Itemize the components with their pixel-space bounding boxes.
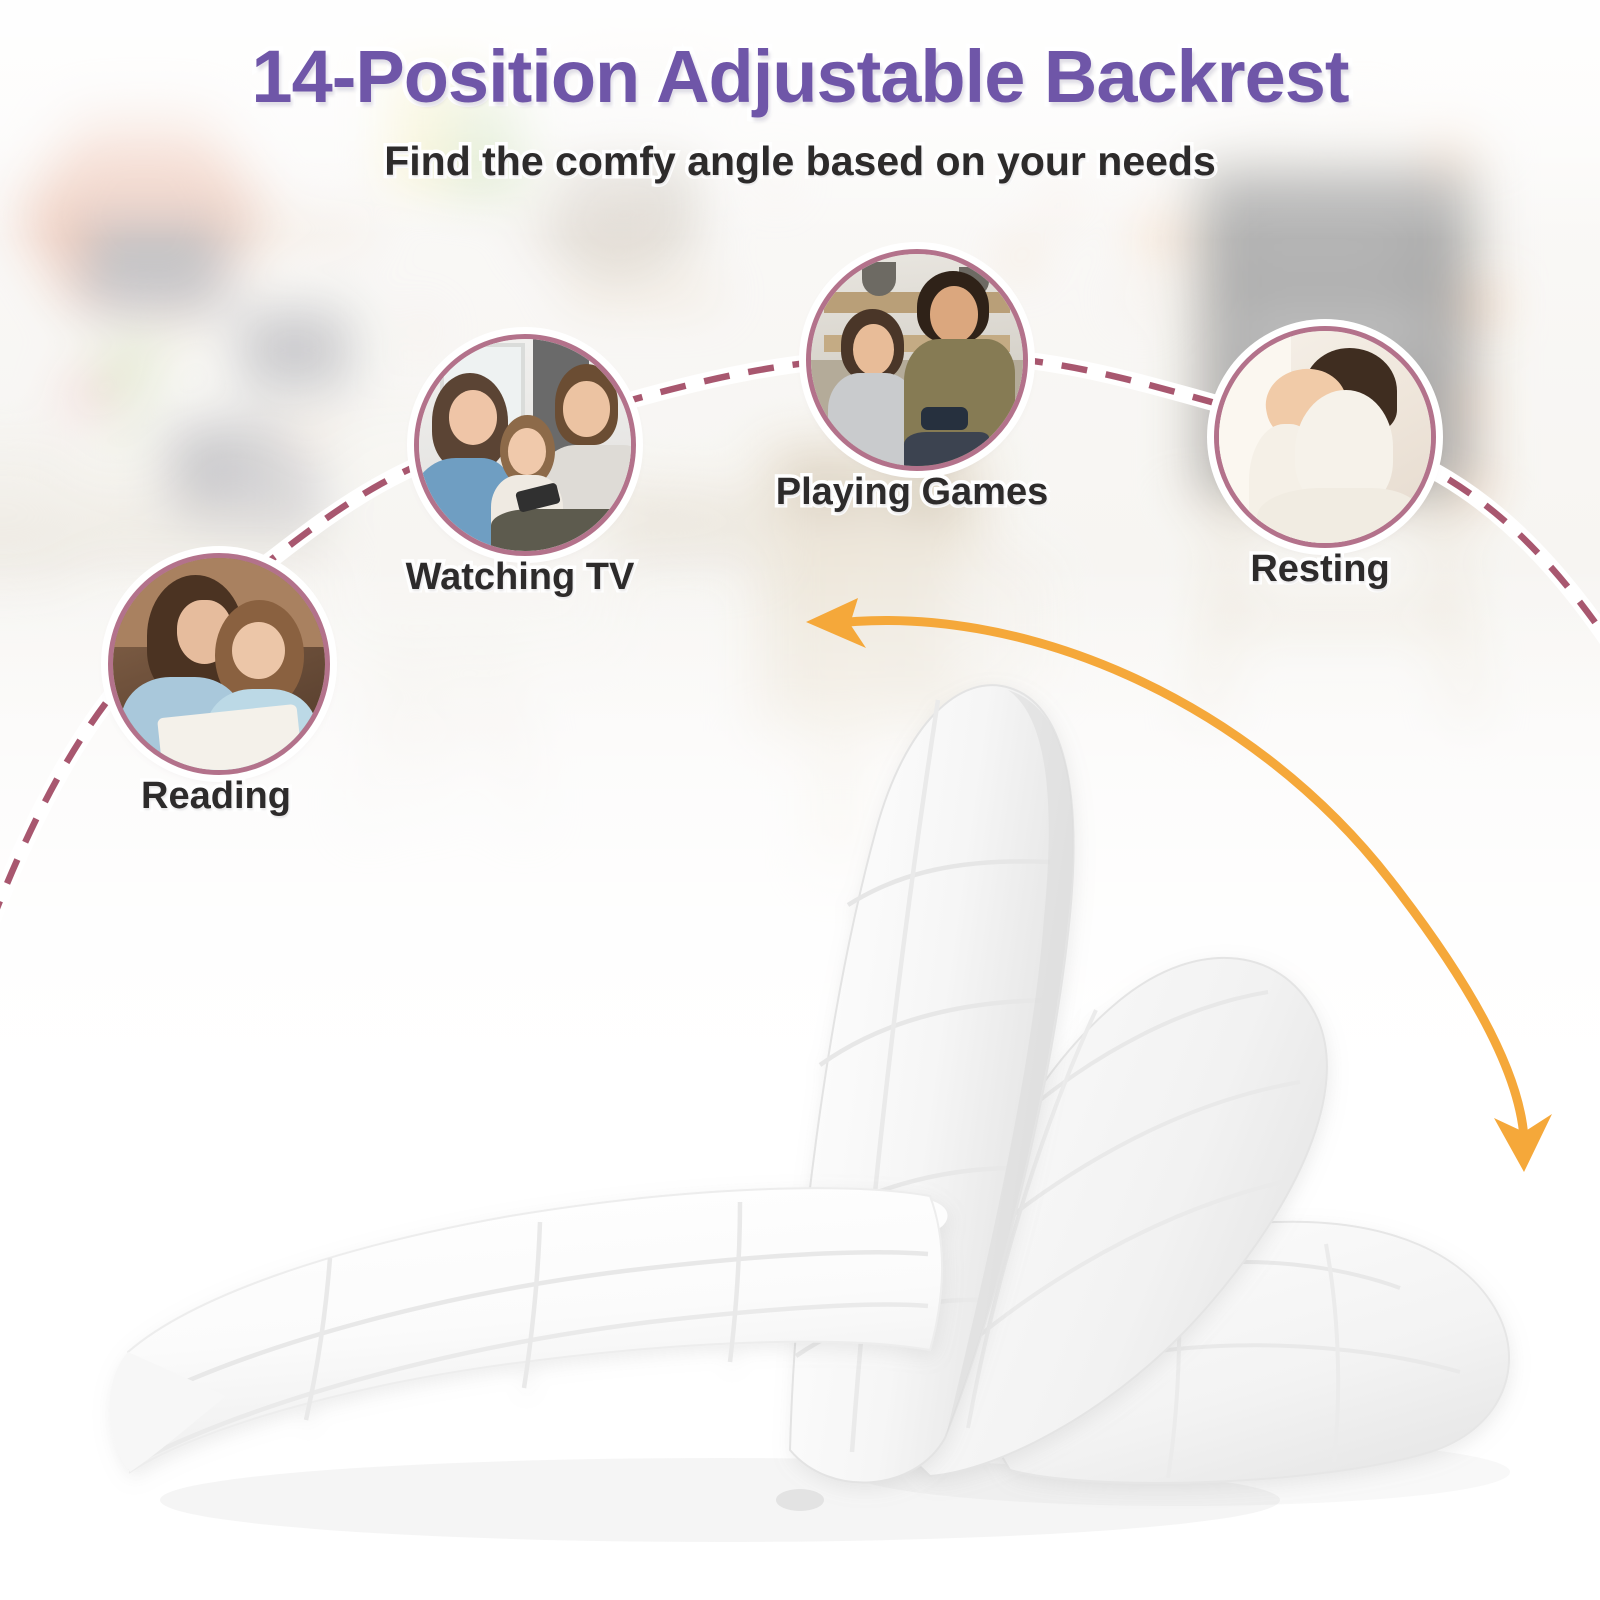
callout-playing-games[interactable]: Playing Games	[806, 249, 1028, 471]
callout-playing-games-label: Playing Games	[776, 471, 1048, 514]
page-subtitle: Find the comfy angle based on your needs	[0, 138, 1600, 185]
callout-resting-photo	[1214, 326, 1436, 548]
callout-resting-label: Resting	[1250, 548, 1389, 591]
callout-resting[interactable]: Resting	[1214, 326, 1436, 548]
page-title: 14-Position Adjustable Backrest	[0, 34, 1600, 119]
callout-watching-tv-photo	[414, 334, 636, 556]
product-feature-image: 14-Position Adjustable Backrest Find the…	[0, 0, 1600, 1600]
callout-watching-tv[interactable]: Watching TV	[414, 334, 636, 556]
callout-reading[interactable]: Reading	[108, 553, 330, 775]
callout-watching-tv-label: Watching TV	[406, 556, 635, 599]
callout-reading-photo	[108, 553, 330, 775]
callout-playing-games-photo	[806, 249, 1028, 471]
callout-reading-label: Reading	[141, 775, 291, 818]
